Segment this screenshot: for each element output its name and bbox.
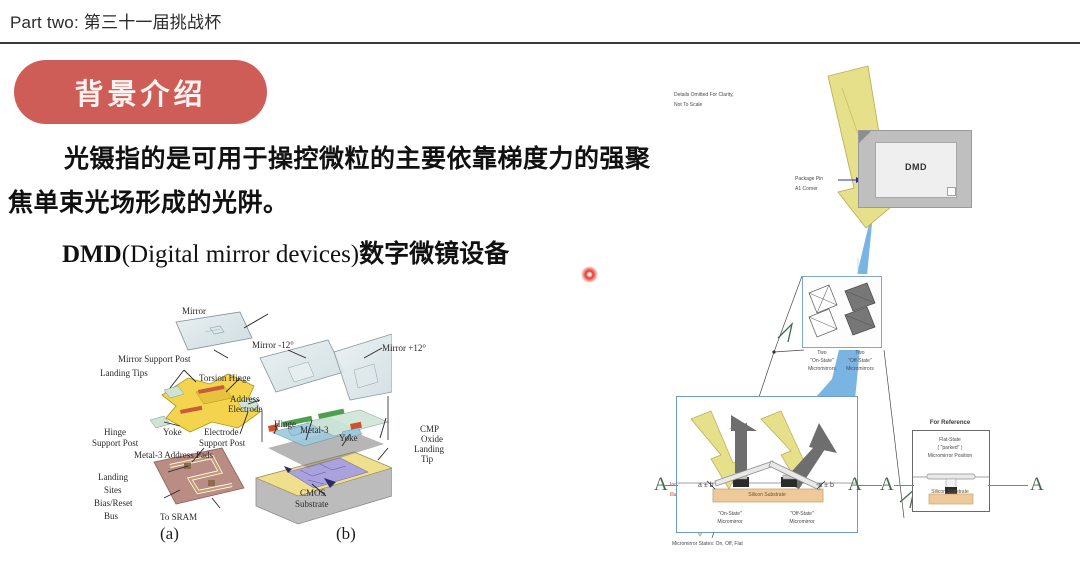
section-badge: 背景介绍: [14, 60, 267, 124]
label-electrode-2: Electrode: [204, 427, 238, 437]
label-mirror-minus12: Mirror -12°: [252, 340, 294, 350]
body-paragraph: 光镊指的是可用于操控微粒的主要依靠梯度力的强聚焦单束光场形成的光阱。: [8, 137, 656, 225]
dmd-definition-line: DMD(Digital mirror devices)数字微镜设备: [62, 234, 509, 270]
label-oxide: Oxide: [421, 434, 443, 444]
label-to-sram: To SRAM: [160, 512, 197, 522]
label-cmp: CMP: [420, 424, 439, 434]
label-torsion-hinge: Torsion Hinge: [199, 373, 251, 383]
angle-left-label: a ± b: [698, 483, 714, 489]
label-bus: Bus: [104, 511, 118, 521]
on-state-box-label-1: Two: [802, 350, 842, 356]
dmd-die-label: DMD: [876, 162, 956, 172]
section-marker-a-4: A: [1030, 474, 1044, 496]
label-landing: Landing: [98, 472, 128, 482]
label-sites: Sites: [104, 485, 122, 495]
figure-caption: Micromirror States: On, Off, Flat: [672, 541, 743, 547]
label-metal3-address-pads: Metal-3 Address Pads: [134, 450, 213, 460]
micromirror-states-svg: [803, 277, 881, 347]
label-yoke-b: Yoke: [339, 433, 358, 443]
angle-right-label: -a ± b: [816, 483, 834, 489]
header-divider: [0, 42, 1080, 44]
label-landing-tips: Landing Tips: [100, 368, 148, 378]
label-landing-b: Landing: [414, 444, 444, 454]
label-electrode-support-post: Support Post: [199, 438, 245, 448]
label-electrode: Electrode: [228, 404, 262, 414]
dmd-package: DMD: [858, 130, 972, 208]
reference-box-svg: [913, 431, 989, 511]
section-axis-mid2: [894, 485, 914, 486]
label-hinge: Hinge: [104, 427, 126, 437]
reference-label-2: ( "parked" ): [912, 445, 988, 451]
dmd-english-name: (Digital mirror devices): [122, 241, 359, 268]
package-pin-label-1: Package Pin: [795, 176, 823, 182]
micromirror-states-box: [802, 276, 882, 348]
dmd-abbreviation: DMD: [62, 241, 122, 268]
section-axis-left: [664, 485, 678, 486]
section-axis-mid: [858, 485, 882, 486]
label-yoke: Yoke: [163, 427, 182, 437]
label-mirror-support-post: Mirror Support Post: [118, 354, 191, 364]
note-line-1: Details Omitted For Clarity,: [674, 92, 734, 98]
silicon-substrate-label: Silicon Substrate: [712, 492, 822, 498]
label-hinge-b: Hinge: [274, 419, 296, 429]
label-mirror-plus12: Mirror +12°: [382, 343, 426, 353]
label-substrate: Substrate: [295, 499, 329, 509]
off-state-box-label-3: Micromirrors: [832, 366, 888, 372]
package-pin-label-2: A1 Corner: [795, 186, 818, 192]
section-axis-right: [988, 485, 1028, 486]
reference-box-title: For Reference: [912, 420, 988, 426]
dmd-chinese-name: 数字微镜设备: [359, 240, 509, 268]
dmd-die: DMD: [875, 142, 957, 198]
page-title: Part two: 第三十一届挑战杯: [10, 8, 221, 33]
laser-dot-marker-icon: [581, 266, 598, 283]
reference-label-1: Flat-State: [912, 437, 988, 443]
off-state-box-label-1: Two: [840, 350, 880, 356]
slide-header: Part two: 第三十一届挑战杯: [0, 0, 1080, 43]
panel-b-caption: (b): [336, 524, 356, 544]
reference-substrate-label: Silicon Substrate: [918, 489, 982, 495]
dmd-pixel-svg: [92, 300, 392, 550]
off-state-mirror-label-1: "Off-State": [772, 511, 832, 517]
cone-origin-marker: [947, 187, 956, 196]
off-state-mirror-label-2: Micromirror: [772, 519, 832, 525]
note-line-2: Not To Scale: [674, 102, 702, 108]
label-cmos: CMOS: [300, 488, 326, 498]
reference-label-3: Micromirror Position: [908, 453, 992, 459]
label-mirror: Mirror: [182, 306, 206, 316]
label-hinge-support-post: Support Post: [92, 438, 138, 448]
label-bias-reset: Bias/Reset: [94, 498, 133, 508]
off-state-box-label-2: "Off-State": [834, 358, 886, 364]
section-badge-label: 背景介绍: [14, 60, 267, 124]
label-address: Address: [230, 394, 260, 404]
dmd-pixel-structure-figure: Mirror Mirror Support Post Landing Tips …: [92, 300, 392, 550]
section-marker-a-3: A: [880, 474, 894, 496]
package-pin-a1-corner-icon: [859, 131, 871, 143]
panel-a-caption: (a): [160, 524, 179, 544]
on-state-mirror-label-2: Micromirror: [700, 519, 760, 525]
label-tip-b: Tip: [421, 454, 433, 464]
on-state-mirror-label-1: "On-State": [700, 511, 760, 517]
label-metal3-b: Metal-3: [300, 425, 329, 435]
